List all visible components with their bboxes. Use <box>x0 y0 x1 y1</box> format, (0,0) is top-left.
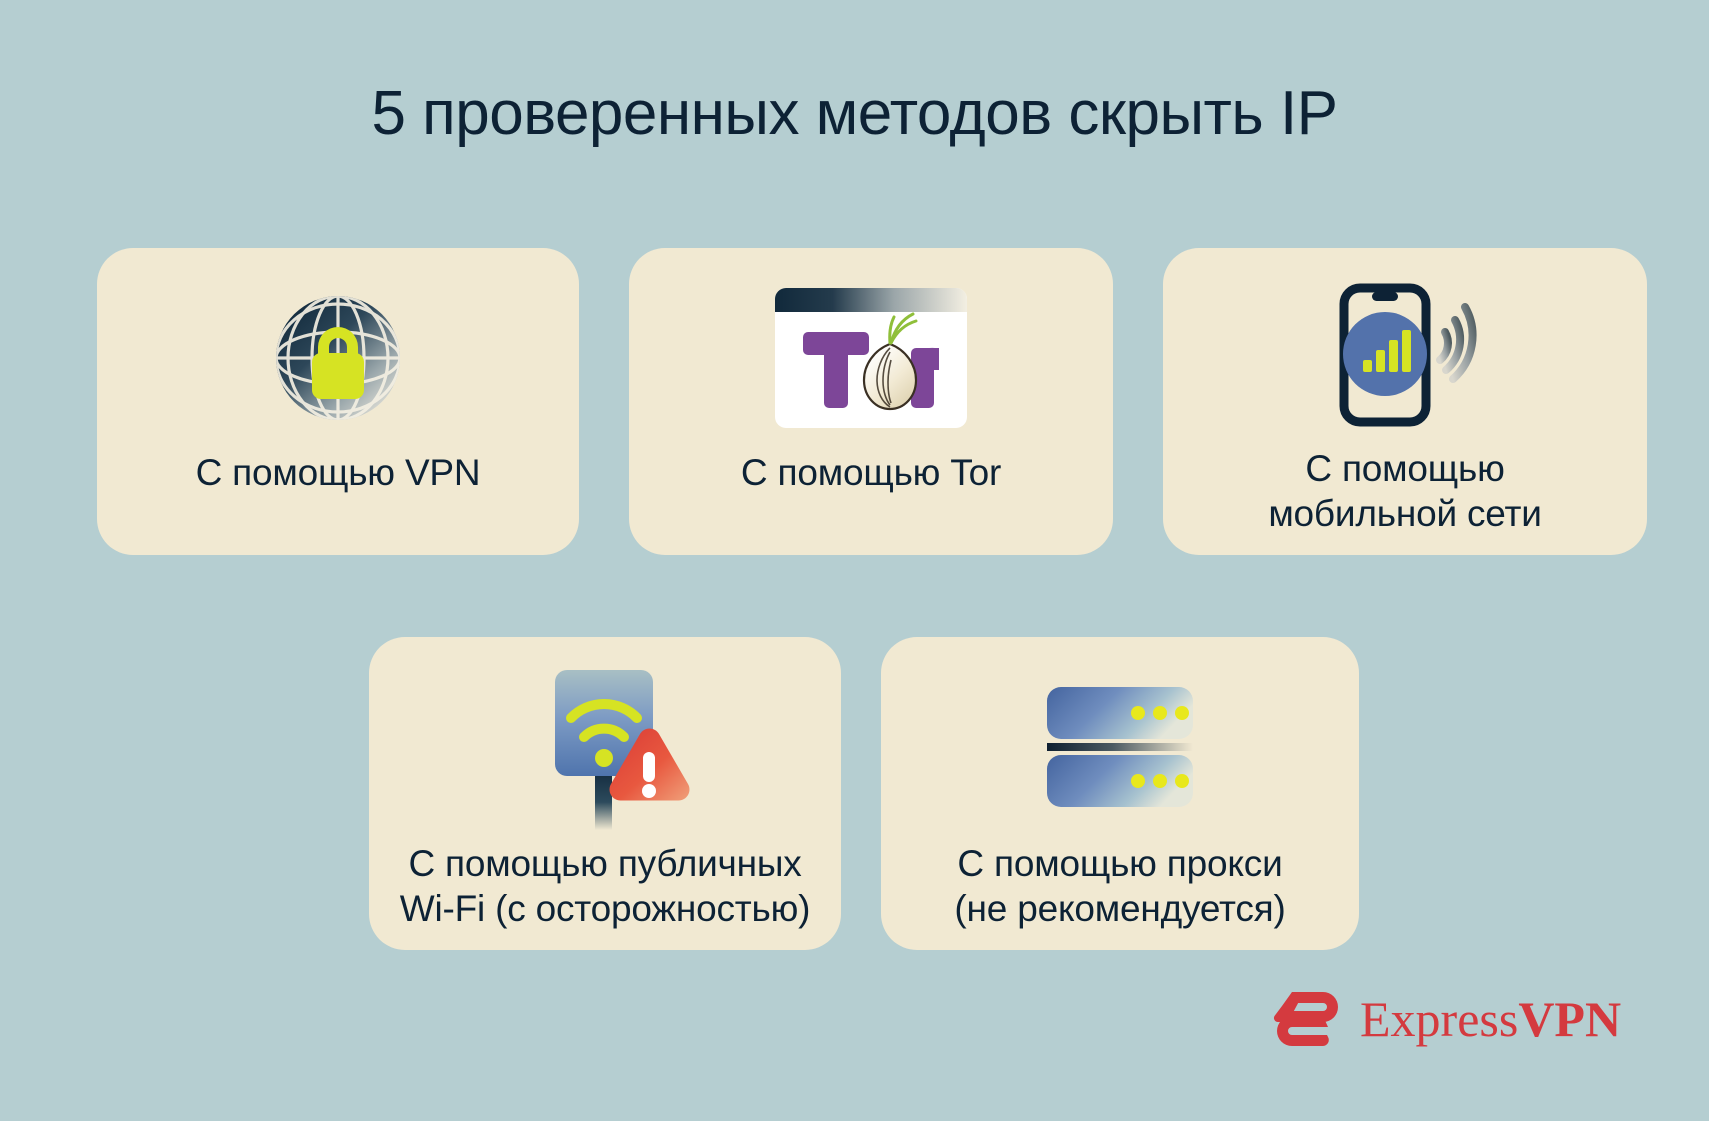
card-proxy-label-line1: С помощью прокси <box>954 841 1285 886</box>
card-public-wifi-label-line1: С помощью публичных <box>400 841 811 886</box>
cards-row-bottom: С помощью публичных Wi-Fi (с осторожност… <box>369 637 1359 950</box>
card-tor[interactable]: С помощью Tor <box>629 248 1113 555</box>
cards-row-top: С помощью VPN <box>97 248 1647 555</box>
mobile-signal-icon <box>1320 278 1490 428</box>
brand-vpn-text: VPN <box>1518 990 1621 1048</box>
card-mobile-label: С помощью мобильной сети <box>1268 446 1541 536</box>
card-proxy-label-line2: (не рекомендуется) <box>954 886 1285 931</box>
card-vpn-label: С помощью VPN <box>196 450 481 495</box>
proxy-server-icon-wrap <box>1045 659 1195 841</box>
card-proxy[interactable]: С помощью прокси (не рекомендуется) <box>881 637 1359 950</box>
page-title: 5 проверенных методов скрыть IP <box>0 78 1709 149</box>
expressvpn-logo-icon <box>1272 988 1344 1050</box>
card-public-wifi-label: С помощью публичных Wi-Fi (с осторожност… <box>400 841 811 931</box>
mobile-signal-icon-wrap <box>1320 268 1490 438</box>
tor-browser-icon <box>773 286 969 430</box>
public-wifi-warning-icon-wrap <box>519 651 691 841</box>
expressvpn-brand[interactable]: Express VPN <box>1272 988 1621 1050</box>
tor-browser-icon-wrap <box>773 270 969 446</box>
brand-express-text: Express <box>1360 990 1518 1048</box>
card-public-wifi-label-line2: Wi-Fi (с осторожностью) <box>400 886 811 931</box>
expressvpn-wordmark: Express VPN <box>1360 990 1621 1048</box>
card-mobile-label-line2: мобильной сети <box>1268 491 1541 536</box>
proxy-server-icon <box>1045 685 1195 815</box>
card-mobile-label-line1: С помощью <box>1268 446 1541 491</box>
globe-lock-icon <box>263 283 413 433</box>
card-vpn[interactable]: С помощью VPN <box>97 248 579 555</box>
card-tor-label: С помощью Tor <box>741 450 1001 495</box>
card-public-wifi[interactable]: С помощью публичных Wi-Fi (с осторожност… <box>369 637 841 950</box>
globe-lock-icon-wrap <box>263 270 413 446</box>
card-proxy-label: С помощью прокси (не рекомендуется) <box>954 841 1285 931</box>
public-wifi-warning-icon <box>519 660 691 832</box>
infographic-root: 5 проверенных методов скрыть IP <box>0 0 1709 1121</box>
card-mobile[interactable]: С помощью мобильной сети <box>1163 248 1647 555</box>
